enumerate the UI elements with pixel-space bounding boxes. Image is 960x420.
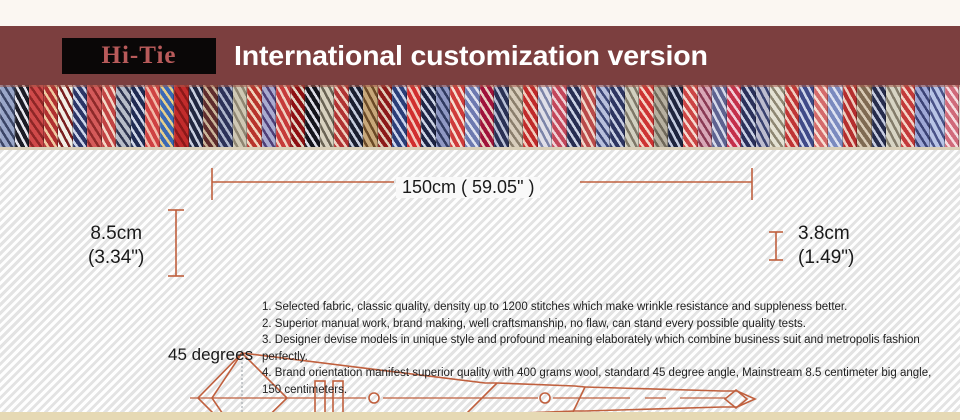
tie-swatch [73,85,88,150]
feature-item: 4. Brand orientation manifest superior q… [262,365,952,398]
tie-swatch [596,85,611,150]
right-dimension-label: 3.8cm (1.49") [798,222,854,270]
tie-swatch [857,85,872,150]
tie-swatch [828,85,843,150]
left-dimension-line [168,210,184,276]
tie-swatch [392,85,407,150]
tie-swatch [683,85,698,150]
feature-item: 3. Designer devise models in unique styl… [262,332,952,365]
tie-swatch [799,85,814,150]
tie-swatch [131,85,146,150]
left-dimension-cm: 8.5cm [88,222,144,246]
left-dimension-inch: (3.34") [88,246,144,270]
angle-callout-label: 45 degrees [168,345,253,365]
tie-swatch [378,85,393,150]
tie-swatch [29,85,44,150]
feature-list: 1. Selected fabric, classic quality, den… [262,299,952,399]
tie-swatch [785,85,800,150]
feature-item: 1. Selected fabric, classic quality, den… [262,299,952,316]
tie-swatch [712,85,727,150]
tie-swatch [538,85,553,150]
tie-swatch [291,85,306,150]
strip-top-edge [0,85,960,87]
tie-swatch [421,85,436,150]
tie-swatch [450,85,465,150]
banner-title: International customization version [234,40,708,72]
tie-swatch [436,85,451,150]
tie-swatch [334,85,349,150]
tie-swatch [276,85,291,150]
tie-swatch [567,85,582,150]
tie-swatch [58,85,73,150]
tie-swatch [233,85,248,150]
tie-swatch [494,85,509,150]
tie-swatch [843,85,858,150]
tie-swatch [581,85,596,150]
tie-swatch [174,85,189,150]
right-dimension-inch: (1.49") [798,246,854,270]
tie-swatch [480,85,495,150]
brand-logo-box: Hi-Tie [62,38,216,74]
tie-swatch [102,85,117,150]
tie-swatch [698,85,713,150]
top-dimension-label: 150cm ( 59.05" ) [396,177,540,198]
tie-swatch [87,85,102,150]
tie-swatch [15,85,30,150]
necktie-photo-strip [0,85,960,150]
tie-swatch [218,85,233,150]
tie-swatch [901,85,916,150]
header-banner: Hi-Tie International customization versi… [0,26,960,85]
tie-swatch [886,85,901,150]
tie-swatch [116,85,131,150]
tie-swatch [305,85,320,150]
tie-swatch [756,85,771,150]
tie-swatch [363,85,378,150]
feature-item: 2. Superior manual work, brand making, w… [262,316,952,333]
tie-swatch [523,85,538,150]
left-dimension-label: 8.5cm (3.34") [88,222,144,270]
tie-swatch [945,85,960,150]
tie-swatch [262,85,277,150]
tie-swatch [915,85,930,150]
tie-swatch [770,85,785,150]
tie-swatch [509,85,524,150]
tie-swatch [552,85,567,150]
tie-swatch [145,85,160,150]
tie-swatch [930,85,945,150]
tie-swatch [189,85,204,150]
tie-swatch [247,85,262,150]
right-dimension-line [769,232,783,260]
tie-swatch [320,85,335,150]
tie-swatch [741,85,756,150]
tie-swatch [814,85,829,150]
tie-swatch [203,85,218,150]
tie-swatch [668,85,683,150]
tie-swatch [160,85,175,150]
tie-swatch [625,85,640,150]
tie-swatch [727,85,742,150]
bottom-tan-bar [0,412,960,420]
right-dimension-cm: 3.8cm [798,222,854,246]
tie-swatch [654,85,669,150]
tie-swatch [349,85,364,150]
tie-swatch [872,85,887,150]
tie-swatch [407,85,422,150]
product-description-image: Hi-Tie International customization versi… [0,0,960,420]
tie-swatch [639,85,654,150]
tie-swatch [44,85,59,150]
top-cream-strip [0,0,960,26]
tie-swatch [0,85,15,150]
brand-name: Hi-Tie [102,43,177,68]
tie-swatch [465,85,480,150]
tie-swatch [610,85,625,150]
